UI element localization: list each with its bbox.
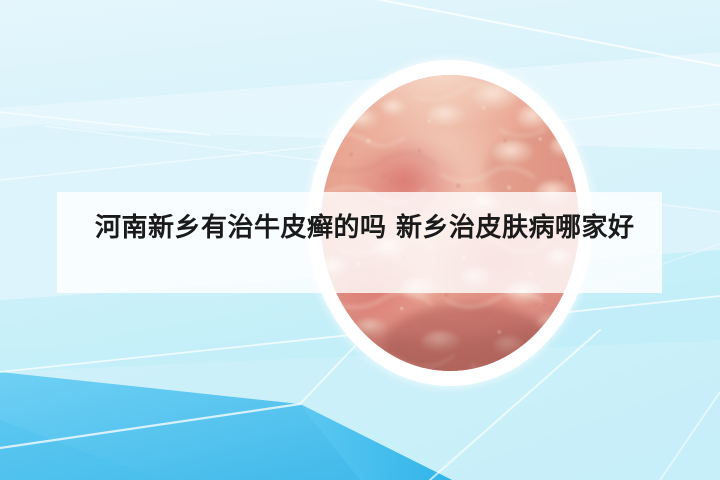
cover-canvas: 河南新乡有治牛皮癣的吗 新乡治皮肤病哪家好 (0, 0, 720, 480)
page-title: 河南新乡有治牛皮癣的吗 新乡治皮肤病哪家好 (95, 210, 655, 246)
